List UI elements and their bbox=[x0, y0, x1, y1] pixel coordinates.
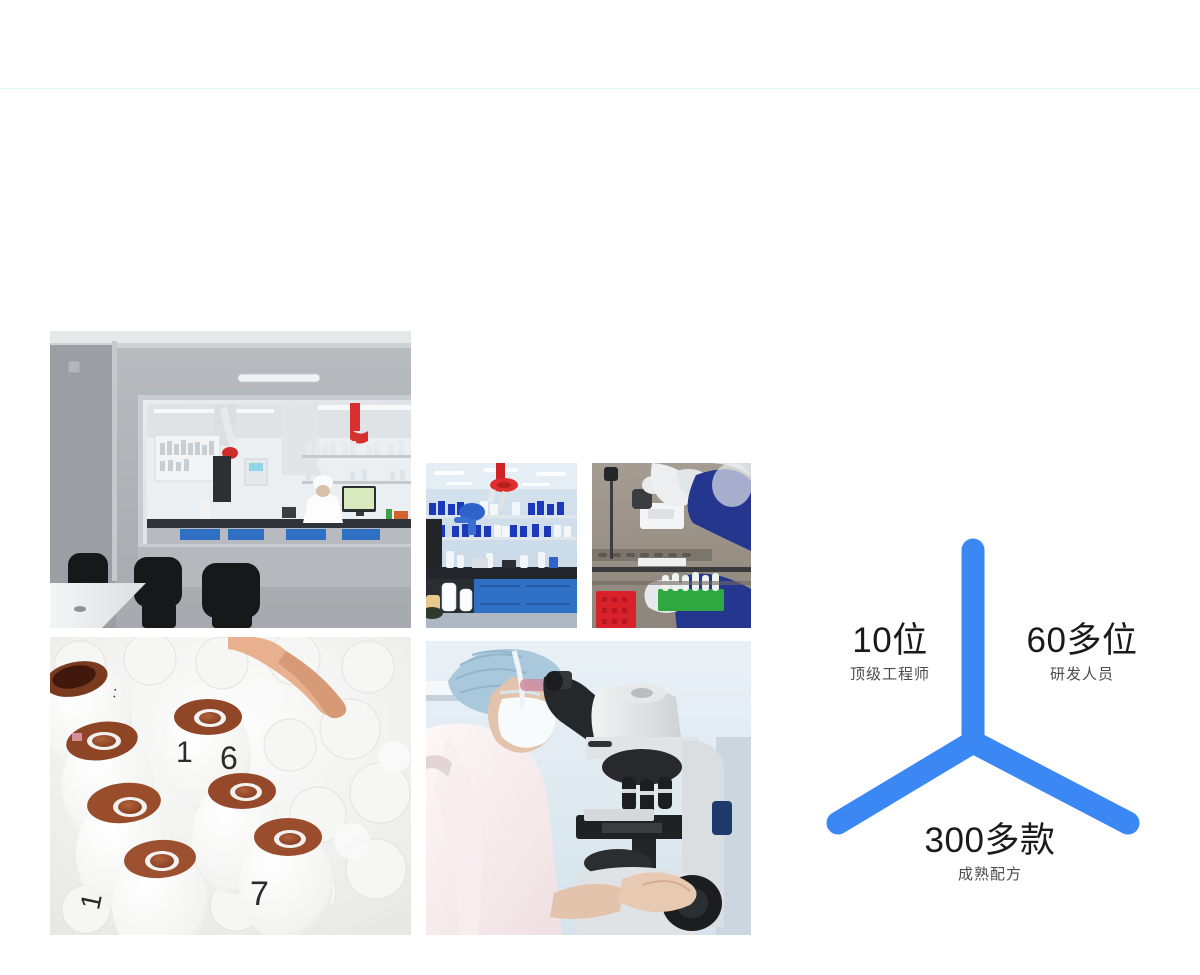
cleanroom-illustration bbox=[50, 331, 411, 628]
stat-mature-formulas: 300多款 成熟配方 bbox=[890, 820, 1090, 886]
stat-caption: 成熟配方 bbox=[890, 864, 1090, 886]
photo-cleanroom-observation-window bbox=[50, 331, 411, 628]
biosafety-illustration bbox=[592, 463, 751, 628]
photo-biosafety-cabinet-pipetting bbox=[592, 463, 751, 628]
svg-text:6: 6 bbox=[220, 740, 238, 776]
stat-top-engineers: 10位 顶级工程师 bbox=[810, 620, 970, 686]
eggs-illustration: : 1 6 bbox=[50, 637, 411, 935]
y-mark-right-arm bbox=[973, 742, 1128, 823]
stat-caption: 研发人员 bbox=[992, 664, 1172, 686]
lab-bench-illustration bbox=[426, 463, 577, 628]
photo-microscope-inspection bbox=[426, 641, 751, 935]
stat-rnd-staff: 60多位 研发人员 bbox=[992, 620, 1172, 686]
microscope-illustration bbox=[426, 641, 751, 935]
photo-embryonated-eggs-tray: : 1 6 bbox=[50, 637, 411, 935]
stat-caption: 顶级工程师 bbox=[810, 664, 970, 686]
svg-text:7: 7 bbox=[250, 875, 269, 913]
photo-laboratory-reagent-bench bbox=[426, 463, 577, 628]
stat-value: 300多款 bbox=[890, 820, 1090, 862]
page-root: : 1 6 bbox=[0, 0, 1200, 975]
stats-section: 10位 顶级工程师 60多位 研发人员 300多款 成熟配方 bbox=[800, 520, 1180, 920]
stat-value: 60多位 bbox=[992, 620, 1172, 662]
svg-text:1: 1 bbox=[176, 736, 193, 769]
y-mark-left-arm bbox=[838, 742, 973, 823]
stat-value: 10位 bbox=[810, 620, 970, 662]
top-divider bbox=[0, 88, 1200, 89]
